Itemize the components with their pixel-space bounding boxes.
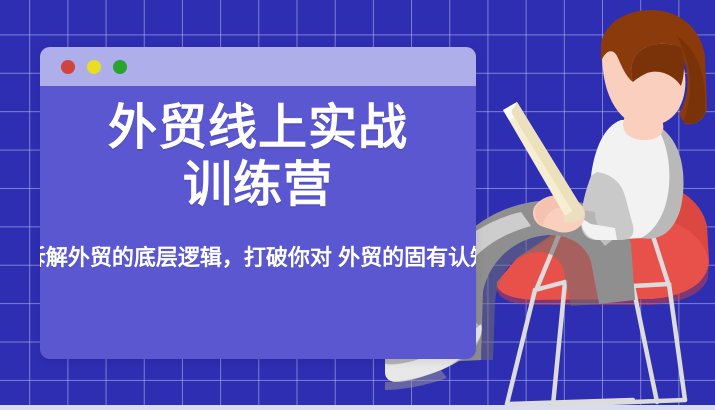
course-subheadline: 拆解外贸的底层逻辑，打破你对 外贸的固有认知 [40, 241, 476, 274]
minimize-dot-icon[interactable] [87, 60, 101, 74]
subline-line-2: 外贸的固有认知 [338, 245, 476, 270]
maximize-dot-icon[interactable] [113, 60, 127, 74]
window-titlebar [40, 47, 476, 86]
floor-strip [0, 405, 715, 410]
headline-line-1: 外贸线上实战 [108, 101, 408, 155]
window-body: 外贸线上实战 训练营 拆解外贸的底层逻辑，打破你对 外贸的固有认知 [40, 86, 476, 359]
subline-line-1: 拆解外贸的底层逻辑，打破你对 [40, 245, 332, 270]
course-headline: 外贸线上实战 训练营 [108, 100, 408, 214]
poster-canvas: 外贸线上实战 训练营 拆解外贸的底层逻辑，打破你对 外贸的固有认知 [0, 0, 715, 410]
close-dot-icon[interactable] [61, 60, 75, 74]
headline-line-2: 训练营 [108, 157, 408, 214]
browser-window-card: 外贸线上实战 训练营 拆解外贸的底层逻辑，打破你对 外贸的固有认知 [40, 47, 476, 359]
